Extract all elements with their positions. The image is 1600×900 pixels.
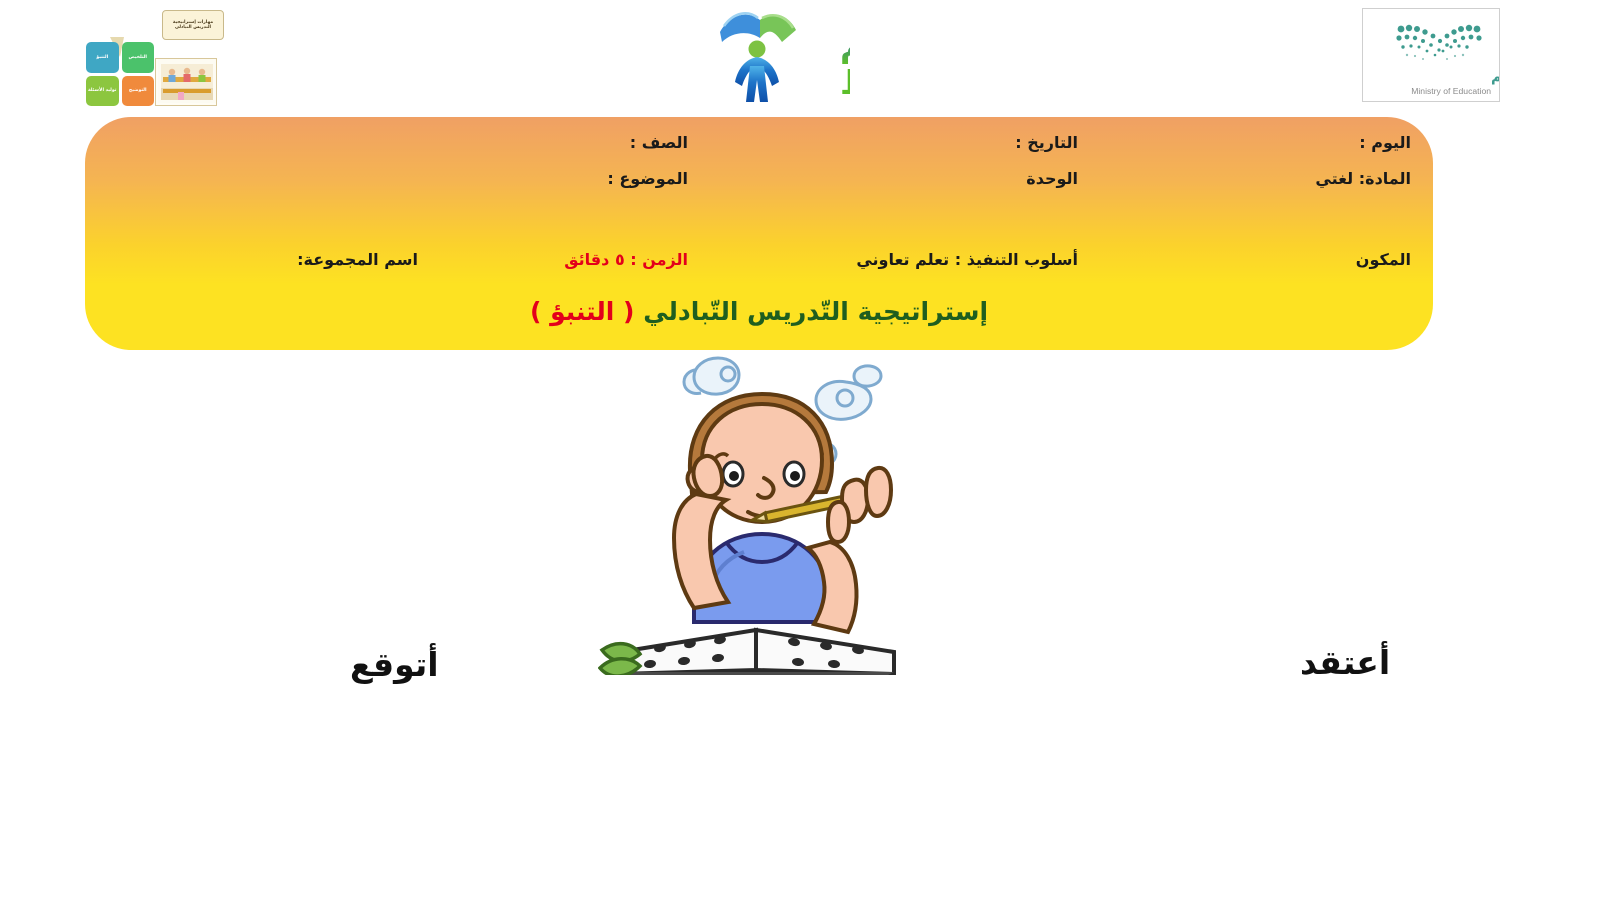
quadrant-predict: التنبؤ — [86, 42, 119, 73]
quadrant-clarify: التوضيح — [122, 76, 155, 107]
header-row-2: المادة: لغتي الوحدة الموضوع : — [85, 161, 1433, 197]
quadrant-summarize: التلخيص — [122, 42, 155, 73]
field-component-label: المكون — [1356, 242, 1411, 278]
field-method-label: أسلوب التنفيذ : تعلم تعاوني — [856, 242, 1078, 278]
classroom-photo-icon — [155, 58, 217, 106]
top-logo-strip: مهارات إستراتيجية التدريس التبادلي التلخ… — [0, 0, 1600, 112]
svg-text:التعلم: التعلم — [840, 25, 850, 64]
field-topic-label: الموضوع : — [607, 161, 688, 197]
svg-text:Ministry of Education: Ministry of Education — [1411, 86, 1491, 96]
reciprocal-teaching-callout-label: مهارات إستراتيجية التدريس التبادلي — [165, 20, 221, 31]
header-row-1: اليوم : التاريخ : الصف : — [85, 125, 1433, 161]
header-row-3: المكون أسلوب التنفيذ : تعلم تعاوني الزمن… — [85, 242, 1433, 278]
reciprocal-teaching-skills-diagram: مهارات إستراتيجية التدريس التبادلي التلخ… — [82, 10, 222, 108]
lesson-info-panel: اليوم : التاريخ : الصف : المادة: لغتي ال… — [85, 117, 1433, 350]
field-group-name-label: اسم المجموعة: — [297, 242, 418, 278]
quadrant-question-generation: توليد الأسئلة — [86, 76, 119, 107]
svg-text:النشط: النشط — [840, 63, 850, 102]
field-subject-label: المادة: لغتي — [1315, 161, 1411, 197]
reciprocal-teaching-quadrants: التلخيص التنبؤ التوضيح توليد الأسئلة — [86, 42, 154, 106]
field-grade-label: الصف : — [630, 125, 688, 161]
active-learning-logo: التعلم النشط — [690, 4, 850, 108]
strategy-title-main: إستراتيجية التّدريس التّبادلي — [643, 297, 988, 326]
field-unit-label: الوحدة — [1026, 161, 1078, 197]
field-day-label: اليوم : — [1359, 125, 1411, 161]
label-believe: أعتقد — [1300, 643, 1390, 682]
ministry-of-education-logo: وزارة التعليم Ministry of Education — [1362, 8, 1500, 102]
field-time-label: الزمن : ٥ دقائق — [564, 242, 688, 278]
reciprocal-teaching-callout: مهارات إستراتيجية التدريس التبادلي — [162, 10, 224, 40]
strategy-title-paren: ( التنبؤ ) — [530, 297, 635, 326]
label-expect: أتوقع — [350, 645, 439, 684]
svg-text:وزارة التعليم: وزارة التعليم — [1491, 69, 1499, 85]
field-date-label: التاريخ : — [1015, 125, 1078, 161]
strategy-title: إستراتيجية التّدريس التّبادلي ( التنبؤ ) — [85, 295, 1433, 329]
thinking-boy-illustration — [598, 352, 918, 675]
